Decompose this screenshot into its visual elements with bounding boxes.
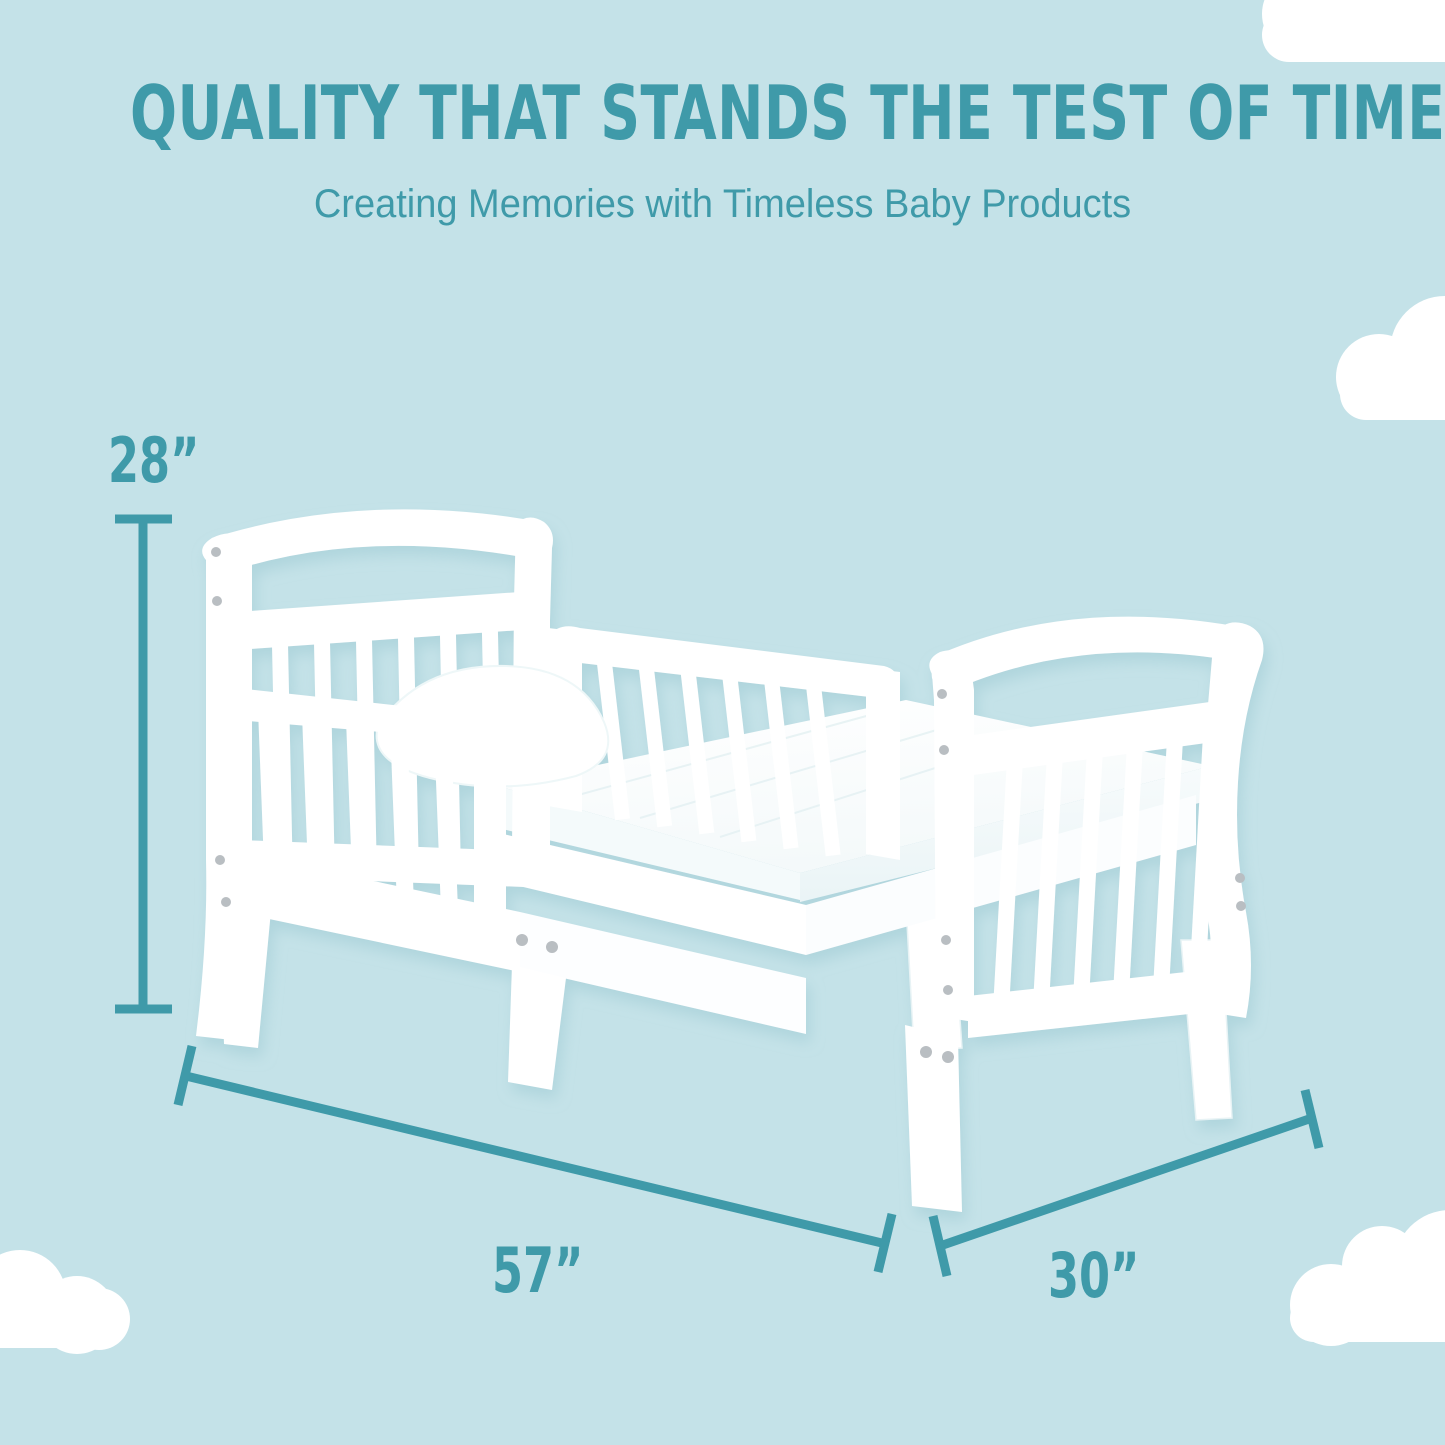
length-dimension-label: 57” xyxy=(492,1240,583,1302)
dimension-guides xyxy=(0,0,1445,1445)
height-dimension-label: 28” xyxy=(108,430,199,492)
length-dimension-line xyxy=(186,1076,886,1244)
depth-dimension-label: 30” xyxy=(1048,1245,1139,1307)
marketing-infographic: QUALITY THAT STANDS THE TEST OF TIME Cre… xyxy=(0,0,1445,1445)
depth-dimension-line xyxy=(940,1118,1312,1246)
